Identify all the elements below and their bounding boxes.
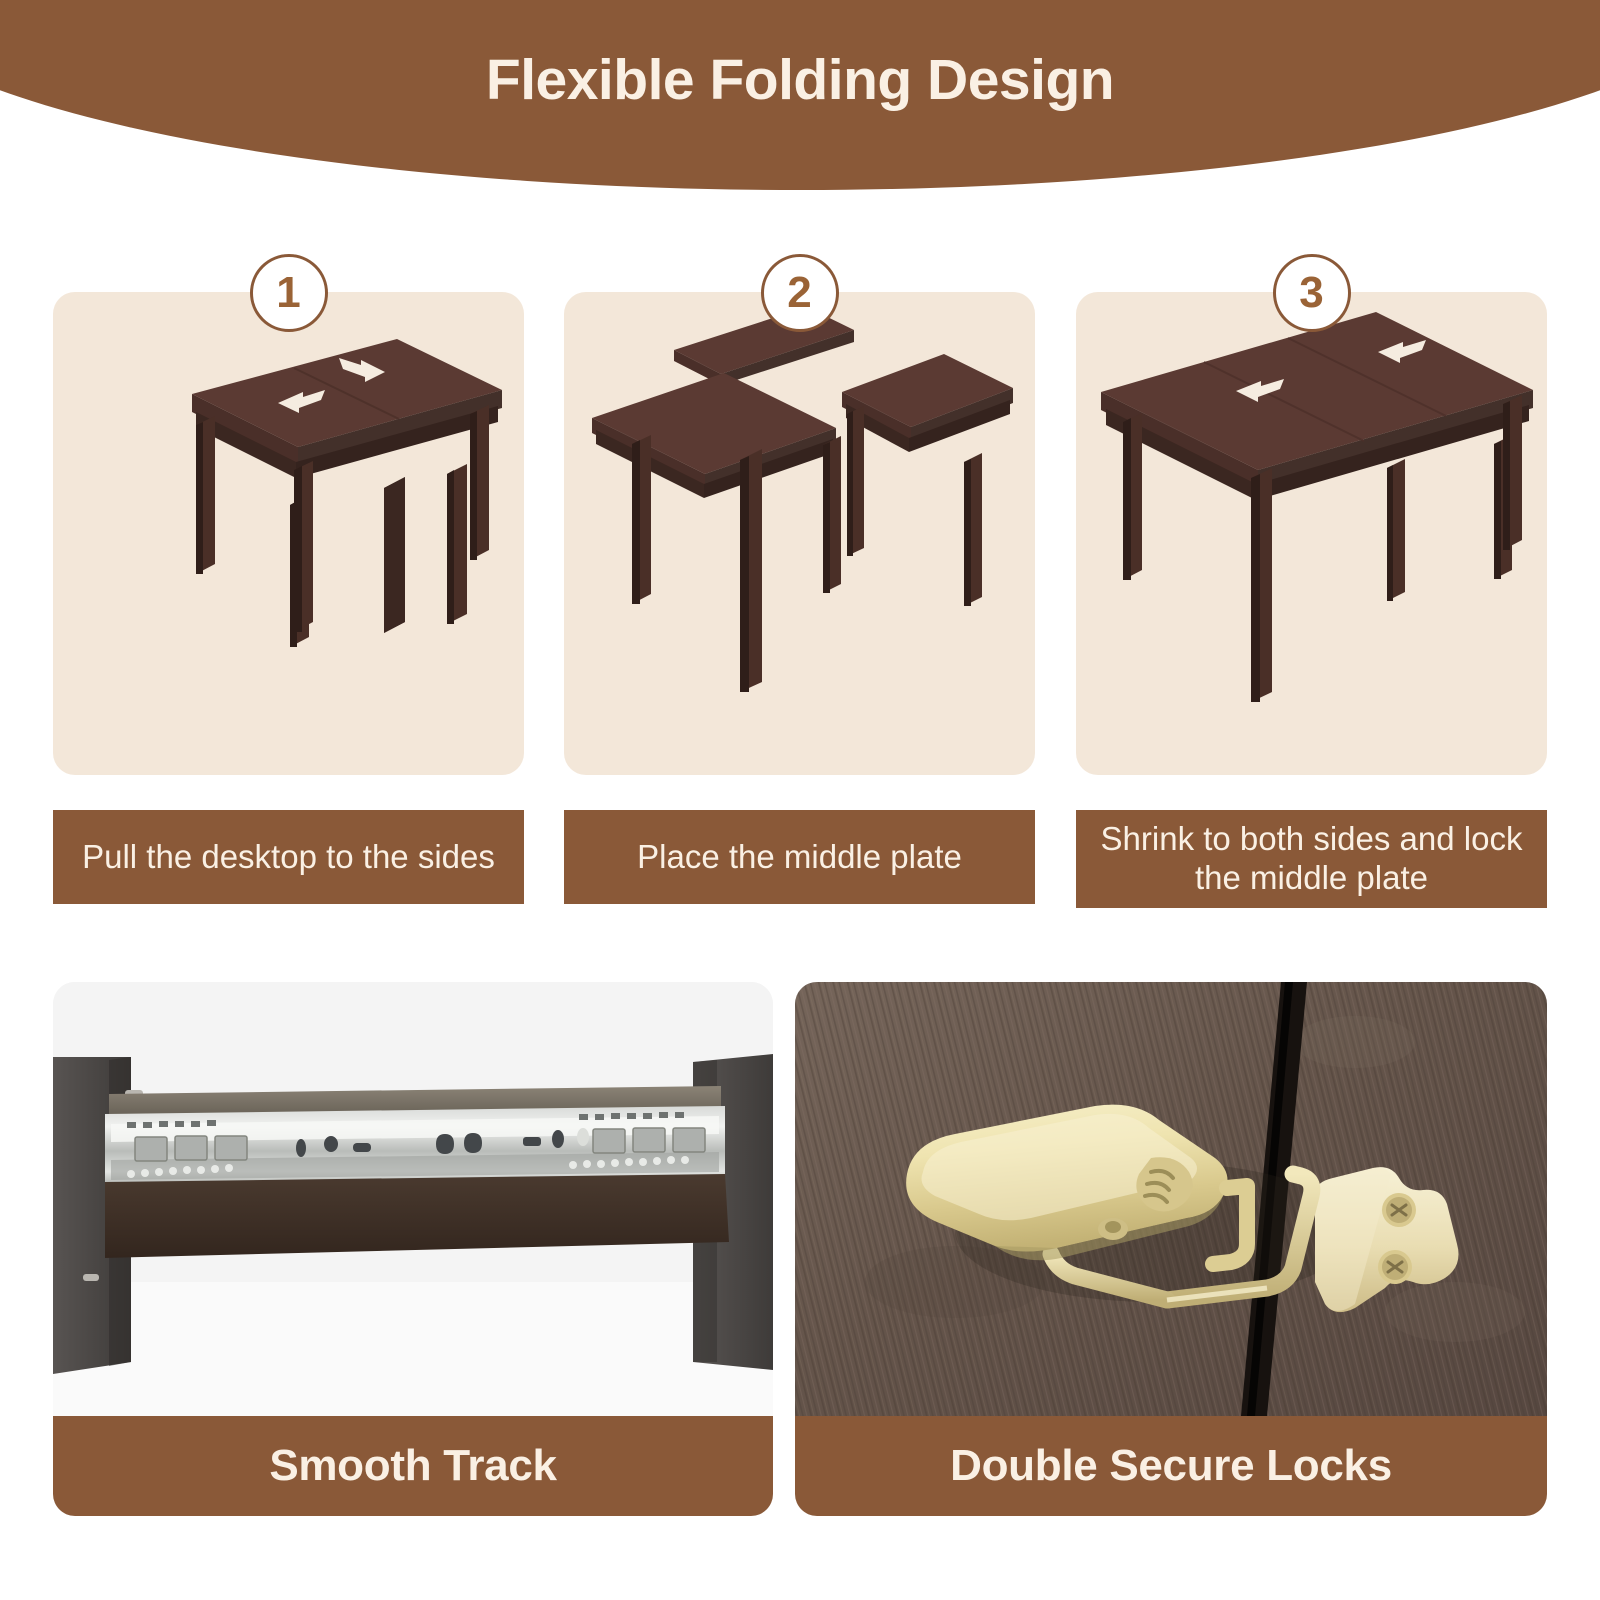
- step-2-badge: 2: [761, 254, 839, 332]
- step-3-card: [1076, 292, 1547, 775]
- step-1-badge: 1: [250, 254, 328, 332]
- step-3-caption: Shrink to both sides and lock the middle…: [1076, 810, 1547, 908]
- step-3: 3 Shrink to both sides and lock the midd…: [1076, 292, 1547, 904]
- smooth-track-photo: [53, 982, 773, 1416]
- step-3-illustration: [1076, 292, 1547, 775]
- page-title: Flexible Folding Design: [0, 0, 1600, 160]
- step-1-caption: Pull the desktop to the sides: [53, 810, 524, 904]
- step-1: 1 Pull the desktop to the sides: [53, 292, 524, 904]
- step-2-card: [564, 292, 1035, 775]
- feature-panel-smooth-track: Smooth Track: [53, 982, 773, 1516]
- double-secure-locks-caption: Double Secure Locks: [795, 1416, 1547, 1516]
- double-secure-locks-photo: [795, 982, 1547, 1416]
- step-2: 2 Place the middle plate: [564, 292, 1035, 904]
- steps-row: 1 Pull the desktop to the sides: [53, 292, 1547, 904]
- feature-panel-double-secure-locks: Double Secure Locks: [795, 982, 1547, 1516]
- step-1-card: [53, 292, 524, 775]
- step-3-number: 3: [1276, 257, 1348, 329]
- step-2-number: 2: [764, 257, 836, 329]
- step-2-illustration: [564, 292, 1035, 775]
- step-2-caption: Place the middle plate: [564, 810, 1035, 904]
- step-3-badge: 3: [1273, 254, 1351, 332]
- infographic-page: Flexible Folding Design: [0, 0, 1600, 1600]
- smooth-track-caption: Smooth Track: [53, 1416, 773, 1516]
- step-1-illustration: [53, 292, 524, 775]
- step-1-number: 1: [253, 257, 325, 329]
